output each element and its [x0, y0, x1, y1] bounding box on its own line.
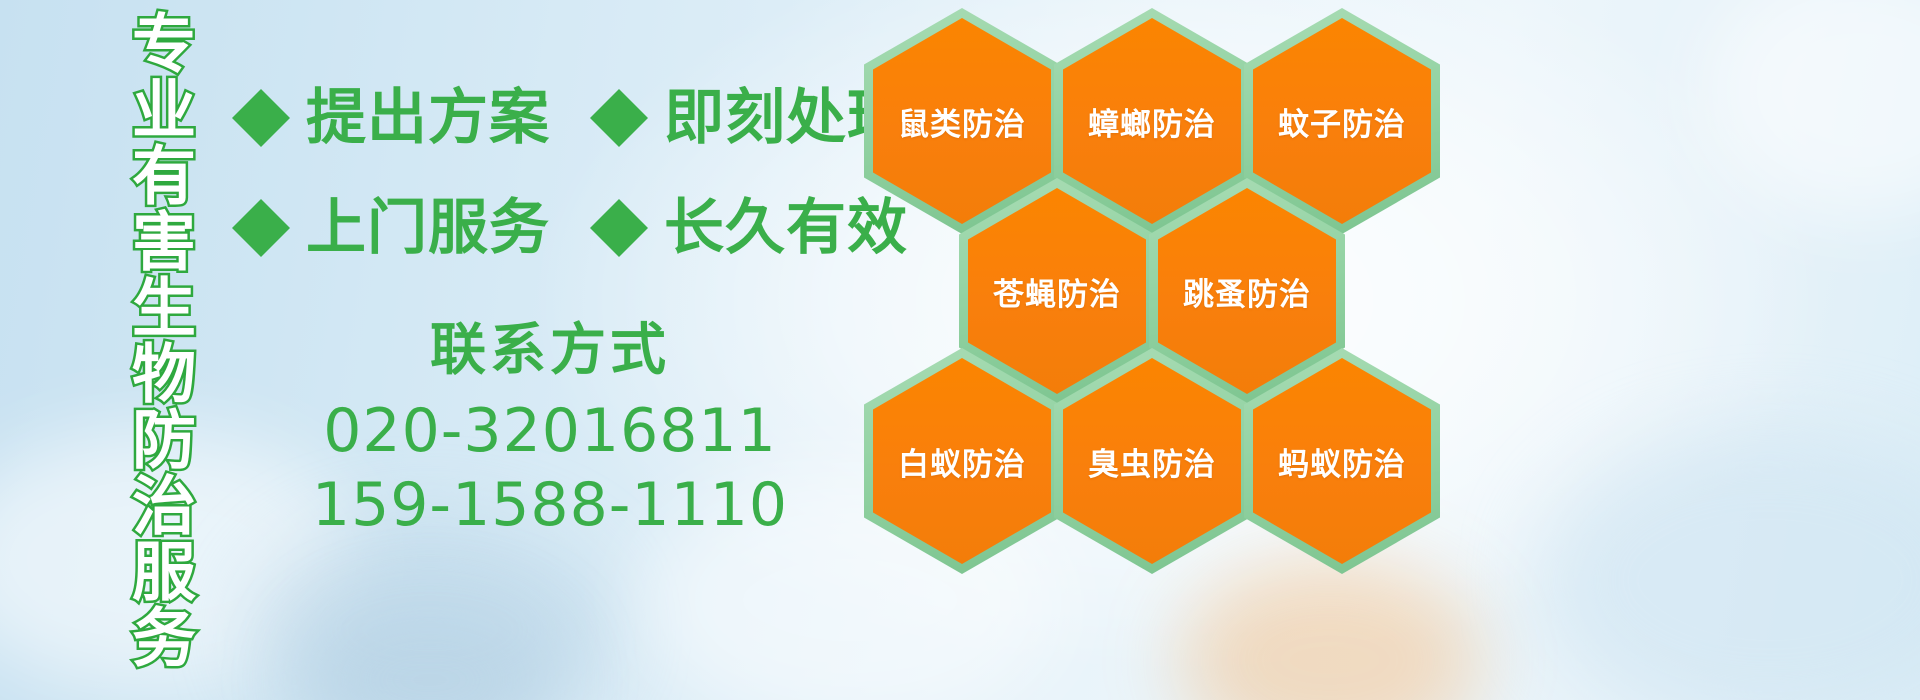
feature-item-propose-plan: 提出方案 — [232, 88, 550, 148]
contact-phone-mobile[interactable]: 159-1588-1110 — [300, 468, 800, 542]
background-blob — [1700, 0, 1920, 220]
hex-bedbug-control[interactable]: 臭虫防治 — [1054, 348, 1250, 574]
contact-phone-landline[interactable]: 020-32016811 — [300, 394, 800, 468]
hex-label: 白蚁防治 — [864, 348, 1060, 574]
hex-label: 臭虫防治 — [1054, 348, 1250, 574]
feature-label: 上门服务 — [306, 198, 550, 258]
background-blob — [1540, 430, 1920, 700]
diamond-icon — [232, 60, 290, 118]
background-blob — [250, 520, 610, 700]
diamond-icon — [590, 60, 648, 118]
background-blob — [300, 600, 560, 700]
hex-termite-control[interactable]: 白蚁防治 — [864, 348, 1060, 574]
feature-row-2: 上门服务 长久有效 — [232, 198, 908, 258]
contact-block: 联系方式 020-32016811 159-1588-1110 — [300, 316, 800, 543]
hex-label: 蚂蚁防治 — [1244, 348, 1440, 574]
hex-ant-control[interactable]: 蚂蚁防治 — [1244, 348, 1440, 574]
diamond-icon — [232, 170, 290, 228]
diamond-icon — [590, 170, 648, 228]
vertical-headline: 专业有害生物防治服务 — [104, 10, 190, 670]
promo-banner: 专业有害生物防治服务 提出方案 即刻处理 上门服务 长久有效 联系方式 020-… — [0, 0, 1920, 700]
feature-label: 提出方案 — [306, 88, 550, 148]
service-honeycomb: 鼠类防治 蟑螂防治 蚊子防治 苍蝇防治 跳蚤防治 白蚁防治 — [856, 0, 1476, 700]
feature-row-1: 提出方案 即刻处理 — [232, 88, 908, 148]
feature-item-door-to-door-service: 上门服务 — [232, 198, 550, 258]
contact-heading: 联系方式 — [300, 316, 800, 386]
